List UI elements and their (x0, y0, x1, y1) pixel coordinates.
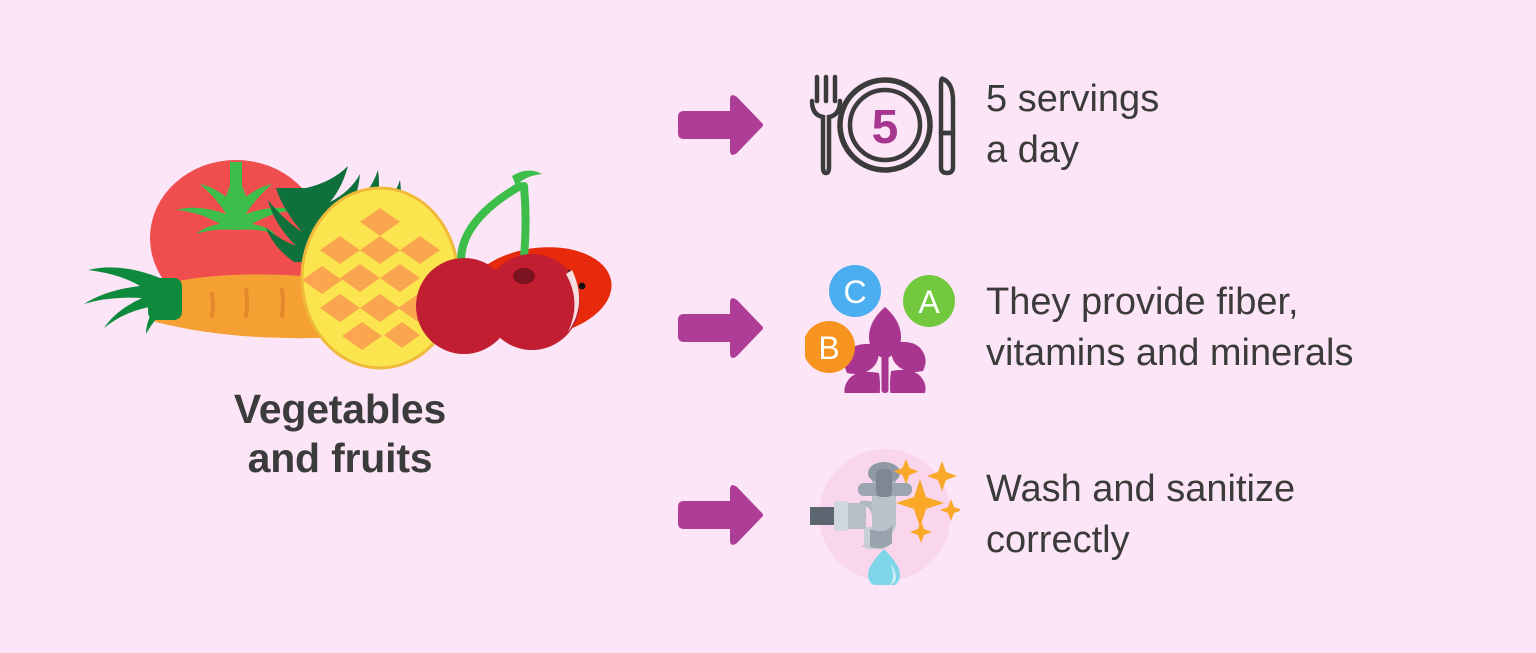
page-title-line-1: Vegetables (60, 385, 620, 434)
icon-cell-faucet (790, 445, 980, 585)
nutrients-line-2: vitamins and minerals (986, 328, 1536, 379)
knife-icon (941, 79, 953, 173)
wall-pipe (810, 507, 838, 525)
vitamin-a-label: A (918, 284, 940, 320)
infographic-canvas: Vegetables and fruits (0, 0, 1536, 653)
faucet-sparkle-icon (810, 445, 960, 585)
benefit-row-nutrients: C A B They provide fiber, vitamins and m… (660, 258, 1536, 398)
plate-fork-knife-icon: 5 (805, 69, 965, 181)
vitamins-plant-icon: C A B (805, 263, 965, 393)
left-panel: Vegetables and fruits (60, 110, 620, 530)
arrow-cell-nutrients (660, 258, 790, 398)
vegetables-and-fruits-illustration (60, 110, 620, 370)
benefit-row-wash: Wash and sanitize correctly (660, 445, 1536, 585)
page-title-line-2: and fruits (60, 434, 620, 483)
icon-cell-plate: 5 (790, 55, 980, 195)
wash-line-1: Wash and sanitize (986, 464, 1536, 515)
benefits-list: 5 5 servings a day (660, 0, 1536, 653)
arrow-right-icon (674, 298, 766, 358)
arrow-cell-servings (660, 55, 790, 195)
vitamin-c-label: C (843, 274, 866, 310)
arrow-right-icon (674, 485, 766, 545)
vitamin-b-label: B (818, 330, 839, 366)
text-cell-wash: Wash and sanitize correctly (980, 445, 1536, 585)
fork-icon (812, 77, 840, 173)
produce-illustration-svg (60, 110, 620, 370)
text-cell-servings: 5 servings a day (980, 55, 1536, 195)
arrow-right-icon (674, 95, 766, 155)
benefit-row-servings: 5 5 servings a day (660, 55, 1536, 195)
plate-badge-number: 5 (872, 101, 899, 154)
icon-cell-vitamins: C A B (790, 258, 980, 398)
nutrients-line-1: They provide fiber, (986, 277, 1536, 328)
wash-line-2: correctly (986, 515, 1536, 566)
arrow-cell-wash (660, 445, 790, 585)
servings-line-2: a day (986, 125, 1536, 176)
text-cell-nutrients: They provide fiber, vitamins and mineral… (980, 258, 1536, 398)
page-title: Vegetables and fruits (60, 385, 620, 483)
servings-line-1: 5 servings (986, 74, 1536, 125)
